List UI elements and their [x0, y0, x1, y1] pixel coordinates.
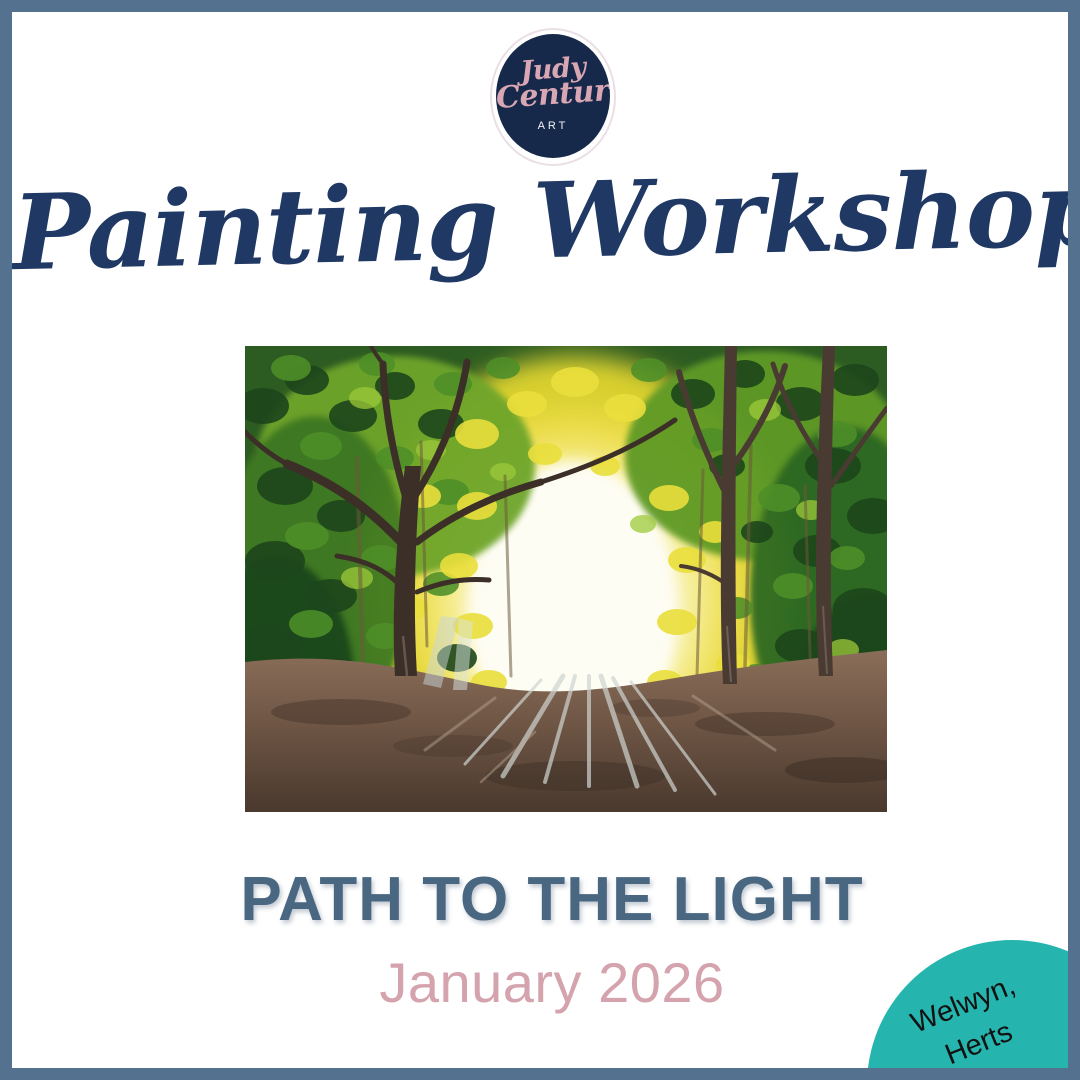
artwork-illustration	[245, 346, 887, 812]
brand-logo: Judy Century ART	[490, 24, 618, 168]
artwork-title: PATH TO THE LIGHT	[12, 864, 1080, 935]
logo-circle: Judy Century ART	[496, 34, 610, 158]
artwork-image	[245, 346, 887, 812]
logo-subtitle: ART	[496, 120, 610, 132]
page-title: Painting Workshop	[11, 152, 1080, 291]
logo-name-line-2: Century	[496, 76, 610, 114]
workshop-poster: Judy Century ART Painting Workshop	[0, 0, 1080, 1080]
